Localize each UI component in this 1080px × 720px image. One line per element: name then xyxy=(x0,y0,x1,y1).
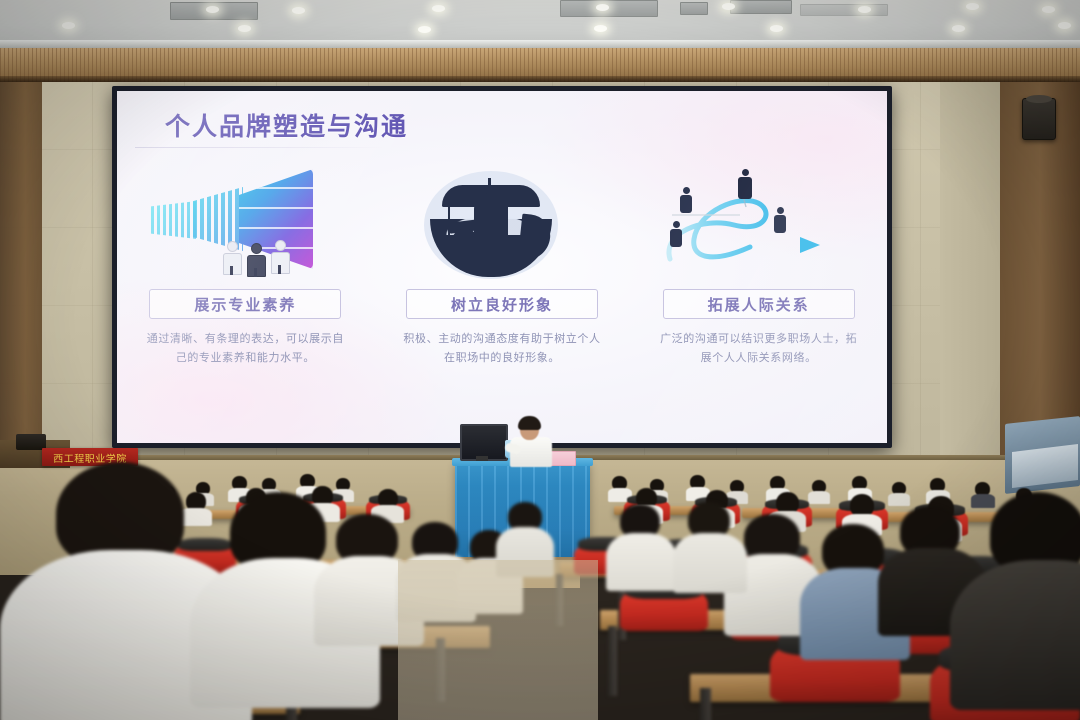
slide-column-3: 拓展人际关系 广泛的沟通可以结识更多职场人士，拓展个人人际关系网络。 xyxy=(630,161,887,431)
slide-divider xyxy=(135,147,385,148)
network-arrow-illustration xyxy=(642,161,875,281)
ceiling-vent-panel xyxy=(680,2,708,15)
celebrating-figure-icon xyxy=(774,207,786,233)
ceiling-downlight xyxy=(418,26,431,33)
slide-column-1: 展示专业素养 通过清晰、有条理的表达，可以展示自己的专业素养和能力水平。 xyxy=(117,161,374,431)
card-heading-3: 拓展人际关系 xyxy=(663,289,855,319)
presentation-slide: 个人品牌塑造与沟通 xyxy=(117,91,887,443)
seated-figure-icon xyxy=(452,229,478,263)
wall-column-right xyxy=(940,82,1002,462)
ceiling-downlight xyxy=(596,4,609,11)
card-heading-2-label: 树立良好形象 xyxy=(451,294,553,315)
center-aisle xyxy=(398,560,598,720)
presenter-hair xyxy=(518,416,541,430)
slide-title: 个人品牌塑造与沟通 xyxy=(165,107,408,143)
card-heading-3-label: 拓展人际关系 xyxy=(708,294,810,315)
megaphone-tail xyxy=(151,201,197,239)
card-heading-1: 展示专业素养 xyxy=(149,289,341,319)
ceiling-downlight xyxy=(432,5,445,12)
card-heading-1-label: 展示专业素养 xyxy=(194,294,296,315)
ceiling-downlight xyxy=(1042,6,1055,13)
standing-figure-icon xyxy=(474,193,508,257)
ceiling-downlight xyxy=(594,25,607,32)
ceiling-light-cove xyxy=(0,40,1080,48)
projection-screen-bezel: 个人品牌塑造与沟通 xyxy=(112,86,892,448)
presenter xyxy=(508,418,554,464)
ceiling-downlight xyxy=(952,25,965,32)
ceiling-downlight xyxy=(62,22,75,29)
ceiling-downlight xyxy=(966,3,979,10)
megaphone-illustration xyxy=(129,161,362,281)
ceiling-vent-panel xyxy=(730,0,792,14)
ceiling-downlight xyxy=(770,25,783,32)
card-body-2: 积极、主动的沟通态度有助于树立个人在职场中的良好形象。 xyxy=(400,330,605,369)
umbrella-meeting-icon xyxy=(416,163,566,281)
network-arrow-icon xyxy=(654,167,854,277)
umbrella-meeting-illustration xyxy=(386,161,619,281)
arrow-path-svg xyxy=(654,167,854,277)
ceiling-vent-panel xyxy=(560,0,658,17)
wall-wood-panel-left xyxy=(0,82,42,462)
ceiling-downlight xyxy=(238,25,251,32)
audience-area xyxy=(0,462,1080,720)
ceiling-downlight xyxy=(292,7,305,14)
wall-speaker-icon xyxy=(1022,98,1056,140)
figure-icon xyxy=(247,243,266,277)
desk-leg xyxy=(608,626,617,696)
figure-icon xyxy=(738,169,752,199)
lecture-hall-photo: 个人品牌塑造与沟通 xyxy=(0,0,1080,720)
figure-icon xyxy=(271,240,290,274)
monitor-stand xyxy=(476,456,488,461)
ceiling-downlight xyxy=(858,6,871,13)
ceiling-vent-panel xyxy=(800,4,888,16)
desk-leg xyxy=(700,688,711,720)
slide-column-2: 树立良好形象 积极、主动的沟通态度有助于树立个人在职场中的良好形象。 xyxy=(374,161,631,431)
ceiling-downlight xyxy=(206,6,219,13)
card-body-3: 广泛的沟通可以结识更多职场人士，拓展个人人际关系网络。 xyxy=(656,330,861,369)
card-heading-2: 树立良好形象 xyxy=(406,289,598,319)
wood-slat-band xyxy=(0,48,1080,82)
figure-icon xyxy=(680,187,692,213)
figure-icon xyxy=(670,221,682,247)
figure-icon xyxy=(223,241,242,275)
card-body-1: 通过清晰、有条理的表达，可以展示自己的专业素养和能力水平。 xyxy=(143,330,348,369)
ceiling-downlight xyxy=(1058,22,1071,29)
ceiling-downlight xyxy=(722,3,735,10)
slide-columns: 展示专业素养 通过清晰、有条理的表达，可以展示自己的专业素养和能力水平。 xyxy=(117,161,887,431)
megaphone-icon xyxy=(147,167,337,277)
